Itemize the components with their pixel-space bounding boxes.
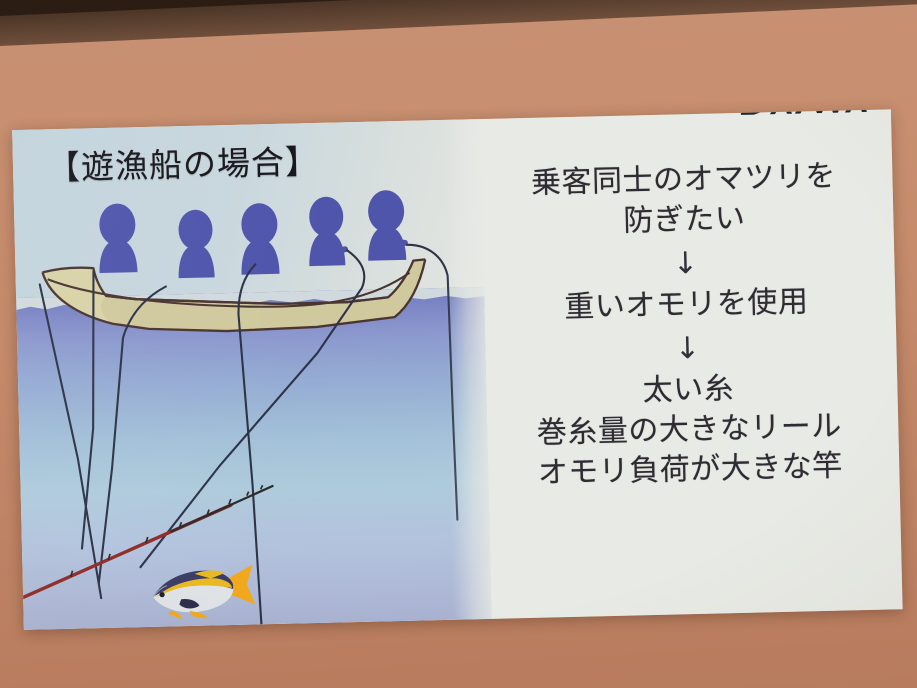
illustration-panel xyxy=(12,119,492,630)
text-line-3: 重いオモリを使用 xyxy=(564,283,809,329)
text-line-1: 乗客同士のオマツリを xyxy=(531,157,837,204)
text-line-6: オモリ負荷が大きな竿 xyxy=(537,447,843,494)
arrow-1: ↓ xyxy=(672,246,698,282)
slide-title: 【遊漁船の場合】 xyxy=(46,135,319,189)
rod-blank-tip xyxy=(171,486,274,531)
slide-text-block: 乗客同士のオマツリを 防ぎたい ↓ 重いオモリを使用 ↓ 太い糸 巻糸量の大きな… xyxy=(483,156,893,595)
slide-canvas: 【遊漁船の場合】 乗客同士のオマツリを 防ぎたい ↓ 重いオモリを使用 ↓ 太い… xyxy=(12,109,903,630)
red-fishing-rod-group xyxy=(12,119,492,630)
text-line-2: 防ぎたい xyxy=(623,199,746,242)
projected-slide: 【遊漁船の場合】 乗客同士のオマツリを 防ぎたい ↓ 重いオモリを使用 ↓ 太い… xyxy=(12,109,903,630)
arrow-2: ↓ xyxy=(674,331,700,367)
text-line-4: 太い糸 xyxy=(642,370,734,412)
